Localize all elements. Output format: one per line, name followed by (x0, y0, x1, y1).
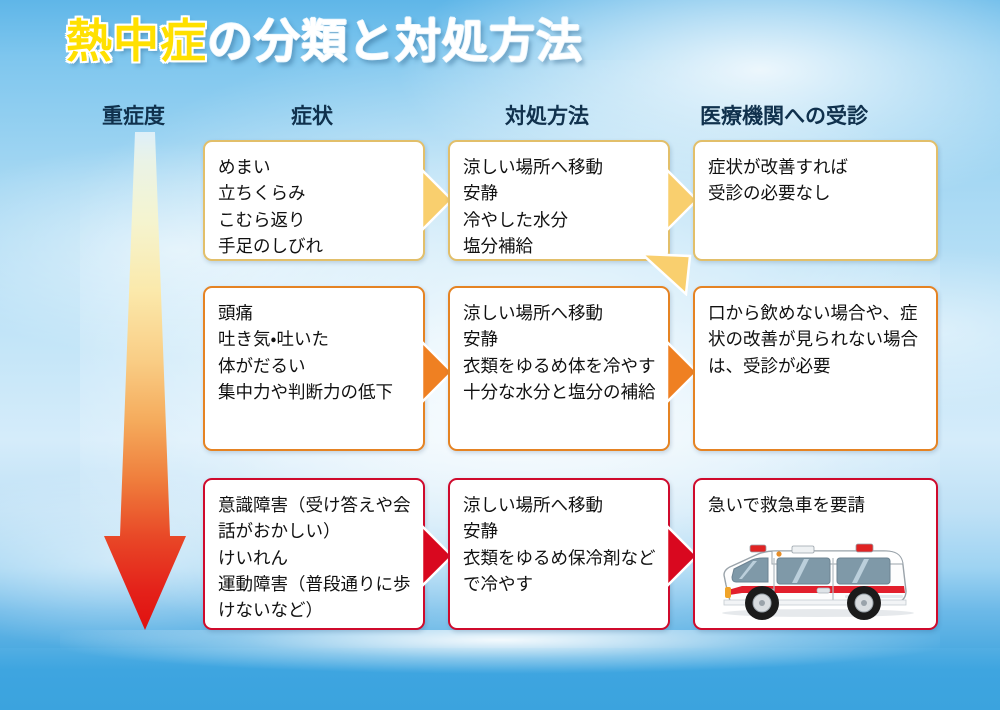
column-header-measure: 対処方法 (505, 100, 589, 130)
measure-line: 涼しい場所へ移動 (463, 492, 656, 518)
page-title-rest: の分類と対処方法 (207, 15, 583, 67)
symptom-line: 運動障害（普段通りに歩けないなど） (218, 571, 411, 624)
measure-line: 十分な水分と塩分の補給 (463, 379, 656, 405)
measure-line: 衣類をゆるめ保冷剤などで冷やす (463, 545, 656, 598)
symptom-line: 意識障害（受け答えや会話がおかしい） (218, 492, 411, 545)
symptom-line: 立ちくらみ (218, 180, 411, 206)
column-header-symptom: 症状 (291, 100, 333, 130)
column-header-medical: 医療機関への受診 (700, 100, 868, 130)
measure-line: 安静 (463, 326, 656, 352)
page-title: 熱中症の分類と対処方法 (66, 16, 583, 67)
symptom-line: 体がだるい (218, 353, 411, 379)
measure-box-level3: 涼しい場所へ移動 安静 衣類をゆるめ保冷剤などで冷やす (448, 478, 670, 630)
column-header-severity: 重症度 (102, 100, 165, 130)
severity-gradient-arrow-icon (94, 132, 196, 630)
medical-line: 受診の必要なし (708, 180, 924, 206)
symptom-line: 手足のしびれ (218, 233, 411, 259)
medical-box-level2: 口から飲めない場合や、症状の改善が見られない場合は、受診が必要 (693, 286, 938, 451)
symptom-line: 吐き気・吐いた (218, 326, 411, 352)
measure-box-level2: 涼しい場所へ移動 安静 衣類をゆるめ体を冷やす 十分な水分と塩分の補給 (448, 286, 670, 451)
medical-line: 急いで救急車を要請 (708, 492, 924, 518)
medical-line: 症状が改善すれば (708, 154, 924, 180)
measure-line: 涼しい場所へ移動 (463, 300, 656, 326)
measure-line: 安静 (463, 180, 656, 206)
medical-box-level1: 症状が改善すれば 受診の必要なし (693, 140, 938, 261)
ambulance-icon (706, 527, 928, 623)
poster-canvas: 熱中症の分類と対処方法 重症度 症状 対処方法 医療機関への受診 めまい 立ちく… (0, 0, 1000, 710)
measure-line: 涼しい場所へ移動 (463, 154, 656, 180)
symptom-line: 頭痛 (218, 300, 411, 326)
measure-line: 冷やした水分 (463, 207, 656, 233)
medical-line: 口から飲めない場合や、症状の改善が見られない場合は、受診が必要 (708, 300, 924, 379)
symptom-box-level2: 頭痛 吐き気・吐いた 体がだるい 集中力や判断力の低下 (203, 286, 425, 451)
measure-line: 衣類をゆるめ体を冷やす (463, 353, 656, 379)
symptom-line: こむら返り (218, 207, 411, 233)
page-title-highlight: 熱中症 (66, 15, 207, 67)
symptom-line: めまい (218, 154, 411, 180)
symptom-line: けいれん (218, 545, 411, 571)
measure-line: 安静 (463, 518, 656, 544)
symptom-box-level3: 意識障害（受け答えや会話がおかしい） けいれん 運動障害（普段通りに歩けないなど… (203, 478, 425, 630)
measure-box-level1: 涼しい場所へ移動 安静 冷やした水分 塩分補給 (448, 140, 670, 261)
sea-band (0, 648, 1000, 710)
measure-line: 塩分補給 (463, 233, 656, 259)
symptom-box-level1: めまい 立ちくらみ こむら返り 手足のしびれ (203, 140, 425, 261)
symptom-line: 集中力や判断力の低下 (218, 379, 411, 405)
